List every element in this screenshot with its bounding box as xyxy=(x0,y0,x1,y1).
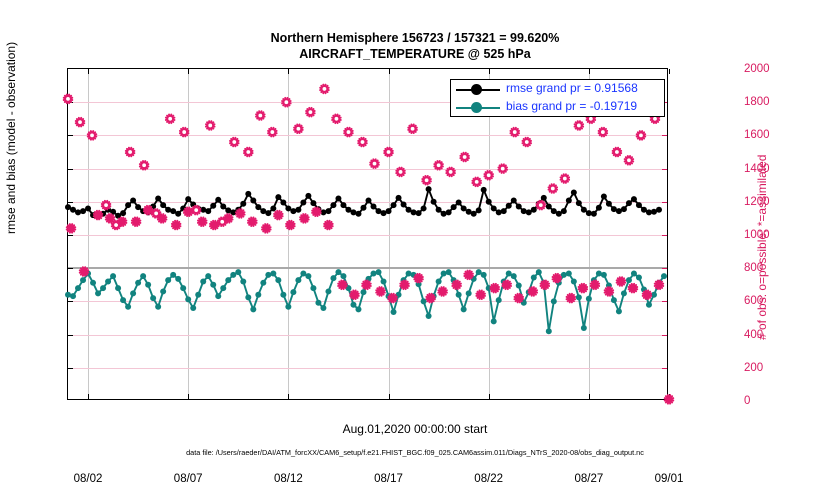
y-tick-label-right: 1000 xyxy=(744,229,770,241)
x-tick-label: 08/02 xyxy=(74,473,103,485)
x-tick-label: 09/01 xyxy=(655,473,684,485)
plot-area: -2-1.5-1-0.500.511.522.53 02004006008001… xyxy=(67,68,668,400)
legend-marker-rmse xyxy=(471,84,482,95)
legend-item-rmse[interactable]: rmse grand pr = 0.91568 xyxy=(451,80,666,99)
x-tick-label: 08/27 xyxy=(574,473,603,485)
x-tick-label: 08/12 xyxy=(274,473,303,485)
y-tick-label-right: 1400 xyxy=(744,163,770,175)
x-tick-label: 08/22 xyxy=(474,473,503,485)
y-axis-right-label: # of obs: o=possible; *=assimilated xyxy=(755,155,769,340)
y-tick-label-right: 1200 xyxy=(744,196,770,208)
y-axis-left-label: rmse and bias (model - observation) xyxy=(4,42,18,234)
legend-label-bias: bias grand pr = -0.19719 xyxy=(506,99,637,113)
series-bias xyxy=(65,269,667,334)
x-tick-label: 08/17 xyxy=(374,473,403,485)
x-axis-label: Aug.01,2020 00:00:00 start xyxy=(0,422,830,436)
y-tick-label-right: 0 xyxy=(744,395,750,407)
x-tick-mark-top xyxy=(669,69,670,74)
y-tick-label-right: 400 xyxy=(744,329,763,341)
y-tick-label-right: 1600 xyxy=(744,129,770,141)
chart-title-line1: Northern Hemisphere 156723 / 157321 = 99… xyxy=(0,31,830,45)
y-tick-label-right: 1800 xyxy=(744,96,770,108)
legend-item-bias[interactable]: bias grand pr = -0.19719 xyxy=(451,98,666,117)
legend-label-rmse: rmse grand pr = 0.91568 xyxy=(506,81,638,95)
y-tick-label-right: 800 xyxy=(744,262,763,274)
legend-marker-bias xyxy=(471,102,482,113)
plot-root: Northern Hemisphere 156723 / 157321 = 99… xyxy=(0,0,830,470)
y-tick-label-right: 200 xyxy=(744,362,763,374)
legend-box[interactable]: rmse grand pr = 0.91568 bias grand pr = … xyxy=(450,79,665,117)
y-tick-label-right: 600 xyxy=(744,295,763,307)
chart-title-line2: AIRCRAFT_TEMPERATURE @ 525 hPa xyxy=(0,47,830,61)
y-tick-label-right: 2000 xyxy=(744,63,770,75)
x-tick-label: 08/07 xyxy=(174,473,203,485)
data-file-footer: data file: /Users/raeder/DAI/ATM_forcXX/… xyxy=(0,448,830,457)
data-series-layer xyxy=(68,69,669,401)
